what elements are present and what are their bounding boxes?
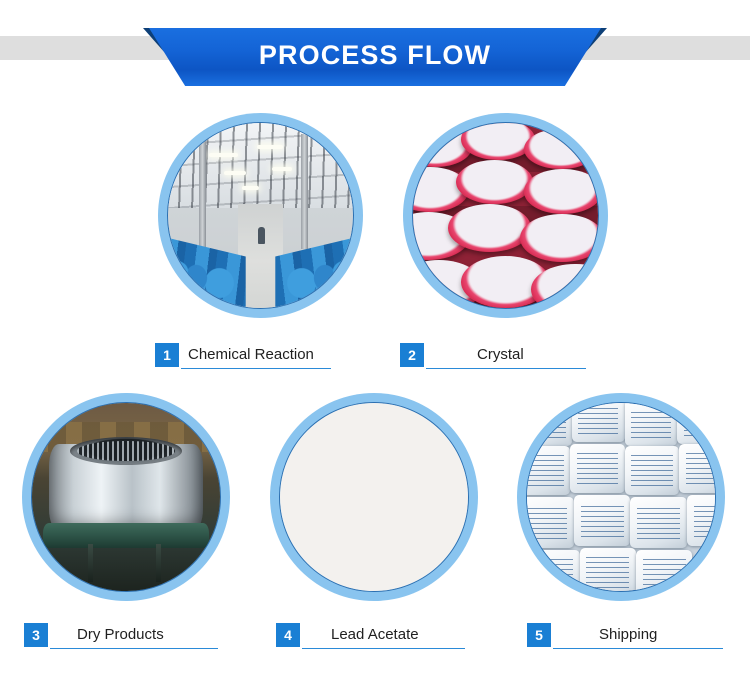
step-image-shipping <box>517 393 725 601</box>
step-label-2: 2 Crystal <box>400 343 590 369</box>
page-header: PROCESS FLOW <box>0 0 750 100</box>
step-image-dry-products <box>22 393 230 601</box>
step-label-5: 5 Shipping <box>527 623 717 649</box>
step-number-badge: 1 <box>155 343 179 367</box>
white-powder-photo <box>280 403 468 591</box>
step-number-badge: 5 <box>527 623 551 647</box>
step-label-underline <box>50 648 218 649</box>
step-number-badge: 4 <box>276 623 300 647</box>
stacked-packaged-bags-photo <box>527 403 715 591</box>
step-image-lead-acetate <box>270 393 478 601</box>
page-title: PROCESS FLOW <box>259 42 491 73</box>
ribbon-band: PROCESS FLOW <box>149 28 601 86</box>
step-label-4: 4 Lead Acetate <box>276 623 466 649</box>
step-label-text: Chemical Reaction <box>188 344 314 366</box>
stainless-centrifuge-dryer-photo <box>32 403 220 591</box>
red-basins-white-crystals-photo <box>413 123 598 308</box>
step-label-underline <box>302 648 465 649</box>
step-image-inner <box>167 122 354 309</box>
step-image-inner <box>412 122 599 309</box>
step-label-text: Crystal <box>477 344 524 366</box>
step-image-crystal <box>403 113 608 318</box>
step-label-text: Dry Products <box>77 624 164 646</box>
step-image-inner <box>526 402 716 592</box>
step-number-badge: 2 <box>400 343 424 367</box>
step-image-inner <box>31 402 221 592</box>
factory-reactor-vessels-photo <box>168 123 353 308</box>
step-label-underline <box>426 368 586 369</box>
step-number-badge: 3 <box>24 623 48 647</box>
step-label-text: Shipping <box>599 624 657 646</box>
step-label-underline <box>553 648 723 649</box>
step-label-text: Lead Acetate <box>331 624 419 646</box>
step-label-1: 1 Chemical Reaction <box>155 343 370 369</box>
step-label-underline <box>181 368 331 369</box>
process-flow-ribbon: PROCESS FLOW <box>143 14 607 86</box>
step-label-3: 3 Dry Products <box>24 623 219 649</box>
step-image-inner <box>279 402 469 592</box>
step-image-chemical-reaction <box>158 113 363 318</box>
